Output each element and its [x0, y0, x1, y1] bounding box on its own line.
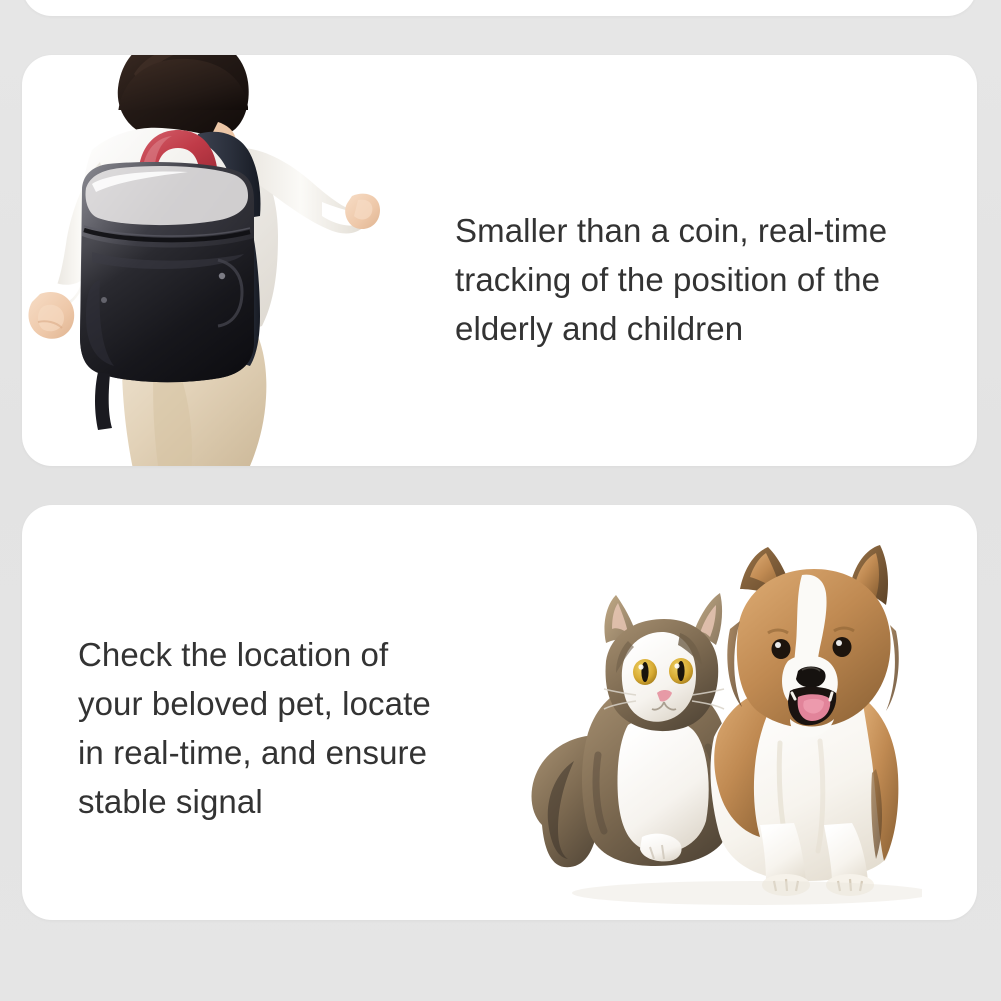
feature-text-tracking: Smaller than a coin, real-time tracking … [455, 206, 945, 353]
cat-and-dog-photo [502, 525, 922, 905]
card-tracking[interactable]: Smaller than a coin, real-time tracking … [22, 55, 977, 466]
page-background: Smaller than a coin, real-time tracking … [0, 0, 1001, 1001]
card-partial-top [22, 0, 977, 16]
boy-with-backpack-photo [22, 55, 382, 466]
feature-text-pets: Check the location of your beloved pet, … [78, 630, 498, 826]
card-pets[interactable]: Check the location of your beloved pet, … [22, 505, 977, 920]
